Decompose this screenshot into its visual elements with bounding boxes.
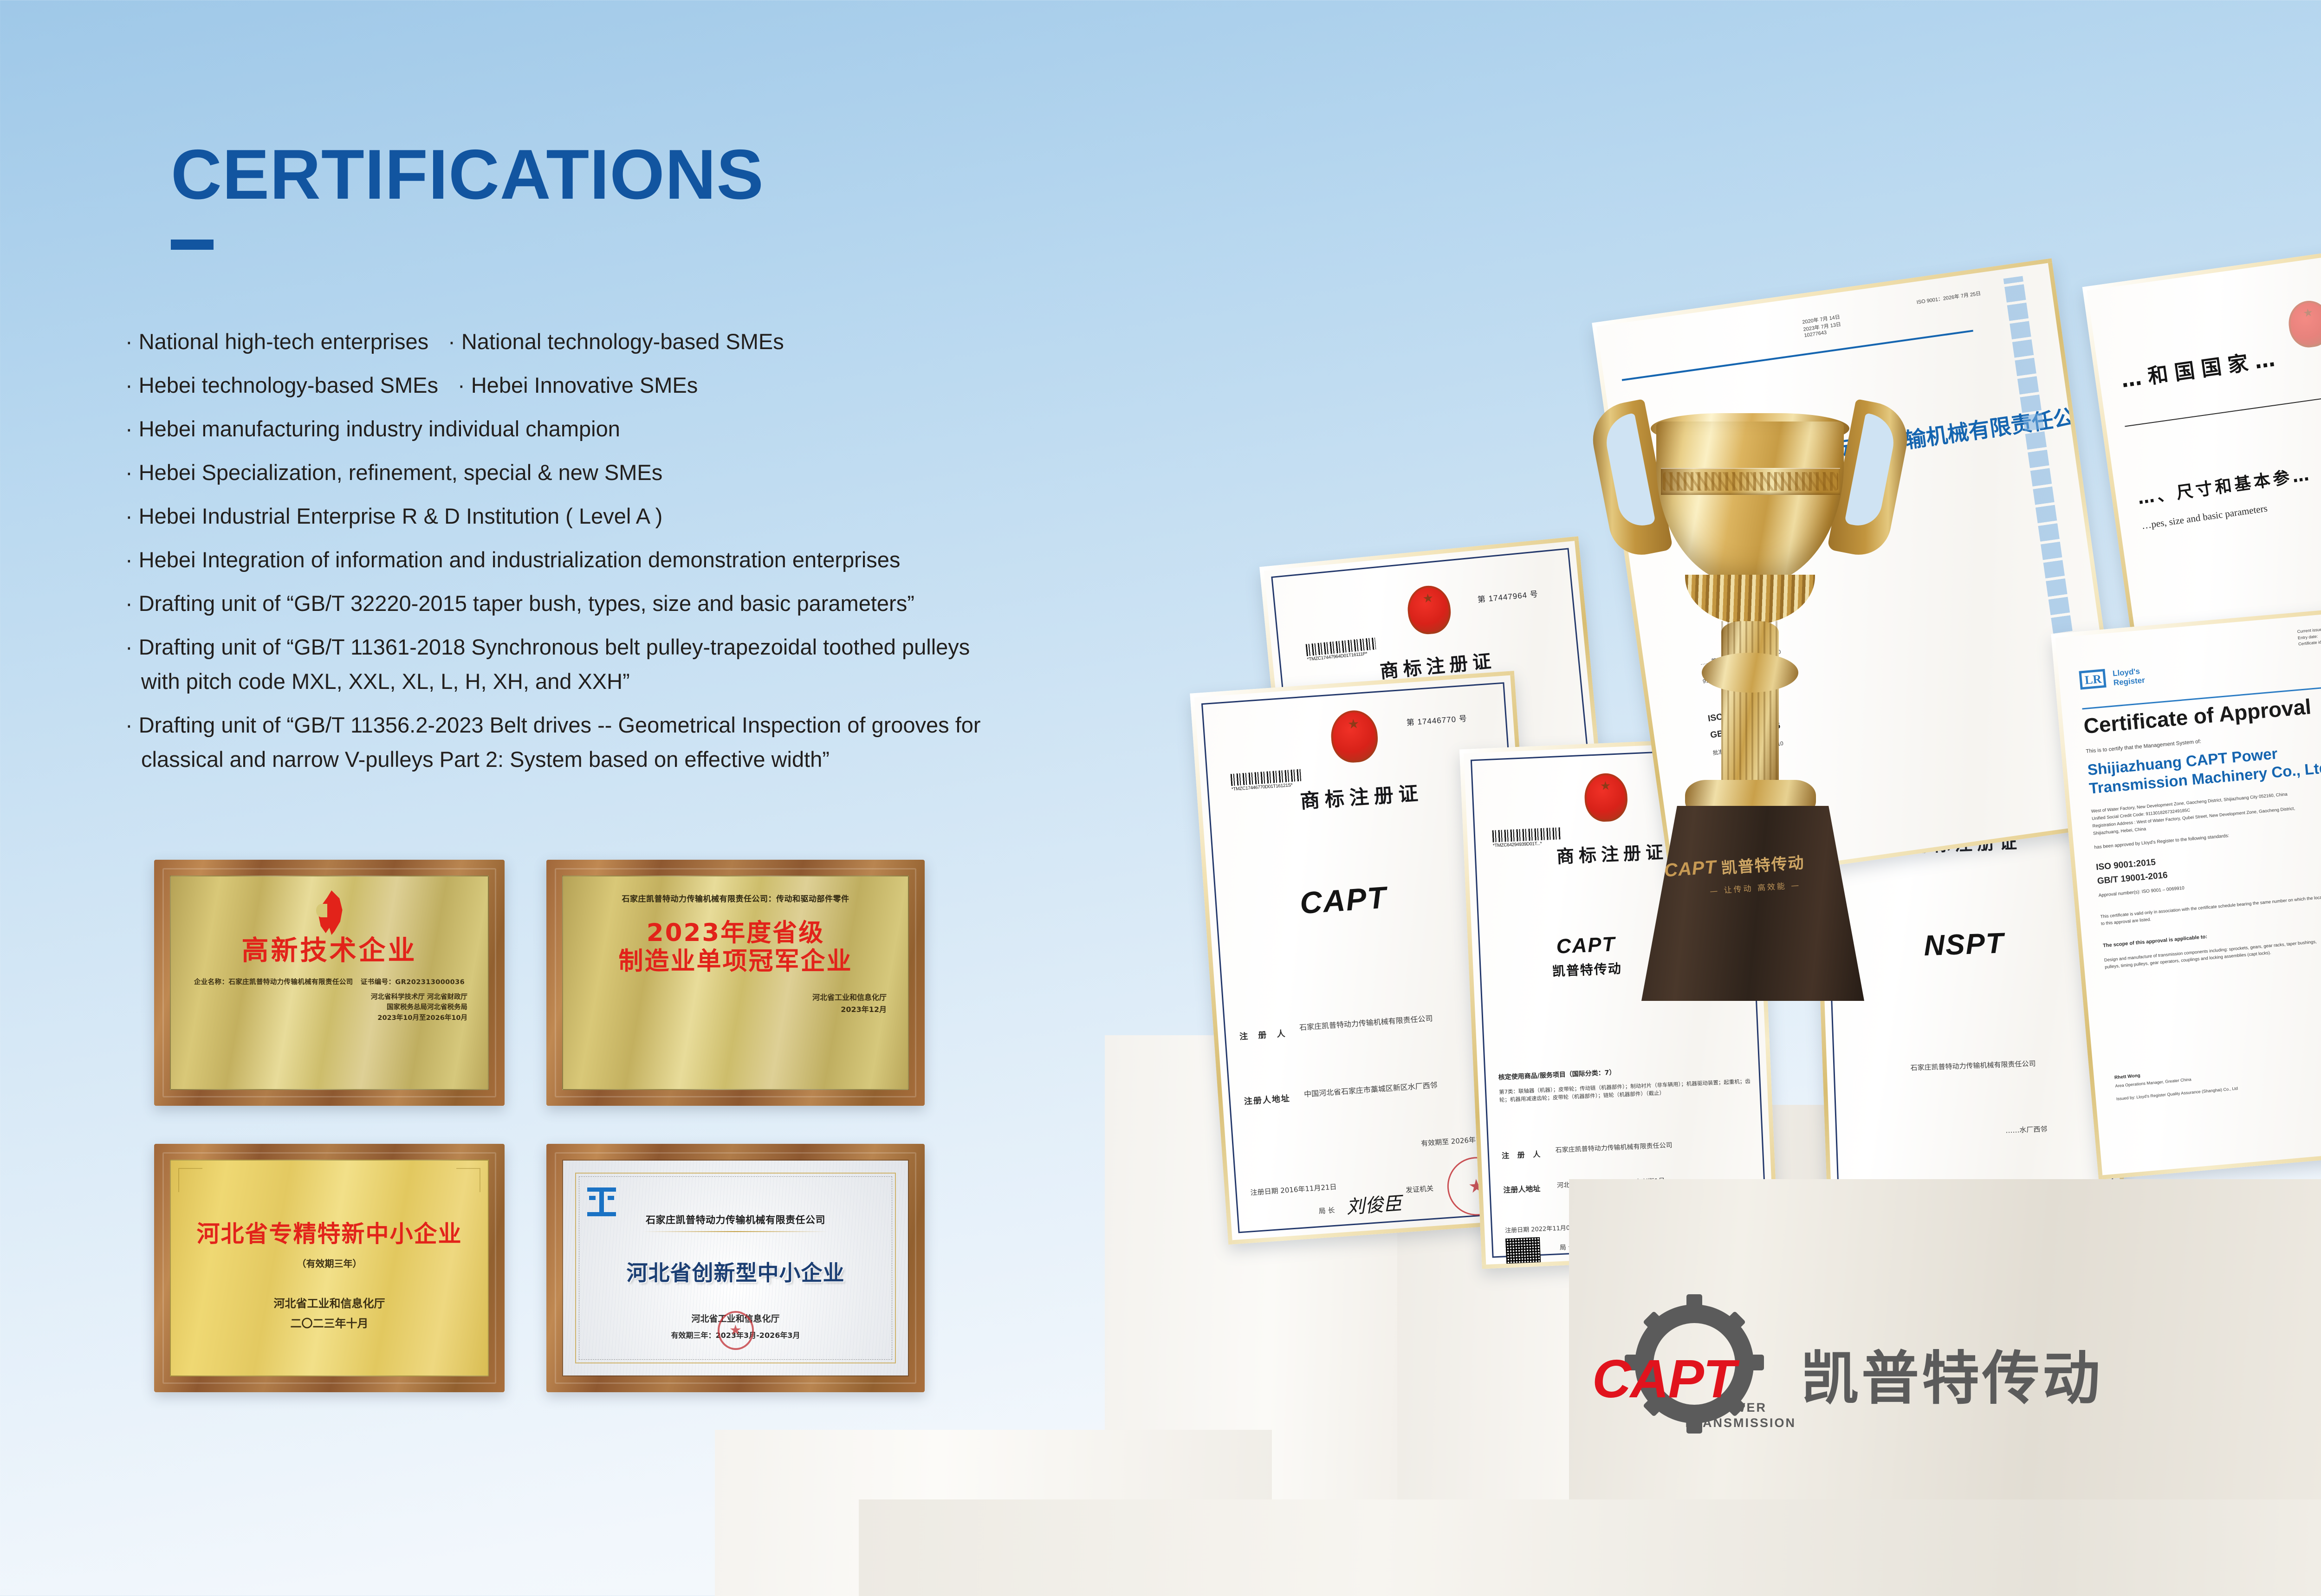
certification-text: classical and narrow V-pulleys Part 2: S… [141,747,830,772]
plaque-manufacturing-champion[interactable]: 石家庄凯普特动力传输机械有限责任公司：传动和驱动部件零件 2023年度省级 制造… [546,860,925,1106]
lr-date-labels: Current issue date: Entry date: Certific… [2297,624,2321,648]
golden-trophy: CAPT 凯普特传动 — 让传动 高效能 — [1546,320,1954,1226]
plaque3-subtitle: （有效期三年） [171,1256,488,1270]
certification-text: · Hebei Specialization, refinement, spec… [125,460,662,485]
industry-ministry-icon [587,1187,616,1216]
certification-list-item: · Hebei Specialization, refinement, spec… [125,461,1137,483]
lr-company-address: West of Water Factory, New Development Z… [2091,790,2296,837]
signature: 刘俊臣 [1345,1188,1403,1219]
certificate-lr-approval[interactable]: Current issue date: Entry date: Certific… [2051,599,2321,1180]
certification-text: · Hebei manufacturing industry individua… [125,416,620,441]
plaque-gold-plate: 高新技术企业 企业名称：石家庄凯普特动力传输机械有限责任公司 证书编号：GR20… [170,876,489,1090]
corner-ornament-icon [178,1168,202,1192]
gb-zh-fragment-1: …和国国家… [2119,342,2283,394]
plaque3-authority: 河北省工业和信息化厅 二〇二三年十月 [171,1294,488,1334]
capt-wordmark-zh: 凯普特传动 [1801,1350,2103,1408]
capt-brand-logo: CAPT POWER TRANSMISSION 凯普特传动 [1592,1300,2140,1439]
certification-list-item: · Drafting unit of “GB/T 32220-2015 tape… [125,592,1137,614]
trophy-stem [1721,621,1779,793]
plaque-gold-plate: 石家庄凯普特动力传输机械有限责任公司：传动和驱动部件零件 2023年度省级 制造… [562,876,909,1090]
high-tech-flame-icon [311,890,348,935]
qr-code-icon [1505,1237,1541,1269]
certification-text: · National high-tech enterprises [125,329,428,354]
lr-issued-by: Issued by: Lloyd's Register Quality Assu… [2116,1086,2238,1101]
signer-label: 局 长 [1318,1205,1335,1216]
certification-list-item: · Hebei manufacturing industry individua… [125,418,1137,440]
plaque1-title: 高新技术企业 [171,937,488,964]
certification-list-item: with pitch code MXL, XXL, XL, L, H, XH, … [125,670,1137,692]
corner-ornament-icon [456,1168,480,1192]
certification-text: · Drafting unit of “GB/T 11361-2018 Sync… [125,635,970,659]
certification-list-item: · Drafting unit of “GB/T 11356.2-2023 Be… [125,714,1137,736]
page-title: CERTIFICATIONS [171,139,764,210]
gb-en-fragment: …pes, size and basic parameters [2141,503,2268,532]
trophy-base-brand: CAPT [1664,857,1718,882]
certification-text: · Hebei Industrial Enterprise R & D Inst… [125,504,662,528]
page-header: CERTIFICATIONS [171,139,764,250]
lr-brand-name: Lloyd'sRegister [2112,667,2145,688]
capt-wordmark: CAPT [1592,1352,1735,1406]
address-value: ……水厂西邻 [2005,1124,2048,1135]
lr-standard-2: GB/T 19001-2016 [2097,870,2168,887]
gb-zh-fragment-2: …、尺寸和基本参… [2136,461,2313,509]
plaque-wood-frame: 高新技术企业 企业名称：石家庄凯普特动力传输机械有限责任公司 证书编号：GR20… [154,860,505,1106]
plaque2-title: 2023年度省级 制造业单项冠军企业 [563,919,908,976]
lr-scope-label: The scope of this approval is applicable… [2103,934,2208,949]
plaque-gold-plate: 河北省专精特新中小企业 （有效期三年） 河北省工业和信息化厅 二〇二三年十月 [170,1160,489,1376]
lr-validity-note: This certificate is valid only in associ… [2100,893,2321,928]
certification-list-item: · Drafting unit of “GB/T 11361-2018 Sync… [125,636,1137,658]
trademark-wordmark: CAPT [1299,879,1388,921]
trophy-stem-knob [1702,653,1798,693]
certification-text: · Hebei technology-based SMEs [125,373,438,397]
lr-certificate-title: Certificate of Approval [2082,694,2312,739]
address-label: 注册人地址 [1503,1182,1541,1195]
plaque-wood-frame: 石家庄凯普特动力传输机械有限责任公司：传动和驱动部件零件 2023年度省级 制造… [546,860,925,1106]
expiry-date: ISO 9001：2026年 7月 25日 [1916,289,1981,305]
plaque-innovative-sme[interactable]: 石家庄凯普特动力传输机械有限责任公司 河北省创新型中小企业 河北省工业和信息化厅… [546,1144,925,1392]
plaque-high-tech-enterprise[interactable]: 高新技术企业 企业名称：石家庄凯普特动力传输机械有限责任公司 证书编号：GR20… [154,860,505,1106]
certification-list-item: · Hebei Integration of information and i… [125,549,1137,571]
divider [2125,383,2321,427]
certification-text: · Hebei Integration of information and i… [125,547,900,572]
issuer-label: 发证机关 [1405,1183,1433,1195]
certification-text-secondary: · National technology-based SMEs [448,331,784,352]
plaque1-company-and-number: 企业名称：石家庄凯普特动力传输机械有限责任公司 证书编号：GR202313000… [171,977,488,986]
title-underline-accent [171,240,214,250]
plaque-white-certificate: 石家庄凯普特动力传输机械有限责任公司 河北省创新型中小企业 河北省工业和信息化厅… [562,1160,909,1376]
trophy-fluted-bowl [1685,575,1815,625]
trophy-cup [1656,422,1844,585]
official-red-seal-icon [718,1311,754,1350]
trophy-base [1641,806,1864,1001]
lloyds-register-logo-icon: LR [2079,669,2106,690]
display-platform-base [859,1499,2321,1596]
registrant-label: 注 册 人 [1502,1148,1543,1161]
certification-text-secondary: · Hebei Innovative SMEs [458,374,698,396]
certification-list-item: · Hebei technology-based SMEs· Hebei Inn… [125,374,1137,396]
certification-list-item: · Hebei Industrial Enterprise R & D Inst… [125,505,1137,527]
lr-standard-1: ISO 9001:2015 [2096,857,2156,873]
plaque1-authority: 河北省科学技术厅 河北省财政厅 国家税务总局河北省税务局 2023年10月至20… [171,992,488,1023]
certification-text: with pitch code MXL, XXL, XL, L, H, XH, … [141,669,630,694]
capt-tagline: POWER TRANSMISSION [1683,1400,1796,1431]
certification-list-item: classical and narrow V-pulleys Part 2: S… [125,748,1137,770]
plaque-wood-frame: 河北省专精特新中小企业 （有效期三年） 河北省工业和信息化厅 二〇二三年十月 [154,1144,505,1392]
certification-text: · Drafting unit of “GB/T 11356.2-2023 Be… [125,713,981,737]
trophy-ornament-band [1661,468,1840,495]
lr-approval-number: Approval number(s): ISO 9001 – 0069910 [2098,886,2185,898]
plaque2-authority: 河北省工业和信息化厅 2023年12月 [563,992,908,1015]
plaque3-title: 河北省专精特新中小企业 [171,1215,488,1249]
plaque-wood-frame: 石家庄凯普特动力传输机械有限责任公司 河北省创新型中小企业 河北省工业和信息化厅… [546,1144,925,1392]
plaque-specialized-sme[interactable]: 河北省专精特新中小企业 （有效期三年） 河北省工业和信息化厅 二〇二三年十月 [154,1144,505,1392]
certification-list-item: · National high-tech enterprises· Nation… [125,331,1137,352]
certification-text: · Drafting unit of “GB/T 32220-2015 tape… [125,591,914,616]
lr-signer-name: Rhett Wong [2114,1073,2141,1081]
plaque2-header: 石家庄凯普特动力传输机械有限责任公司：传动和驱动部件零件 [563,892,908,904]
certification-list: · National high-tech enterprises· Nation… [125,331,1137,792]
national-emblem-icon [2286,298,2321,350]
